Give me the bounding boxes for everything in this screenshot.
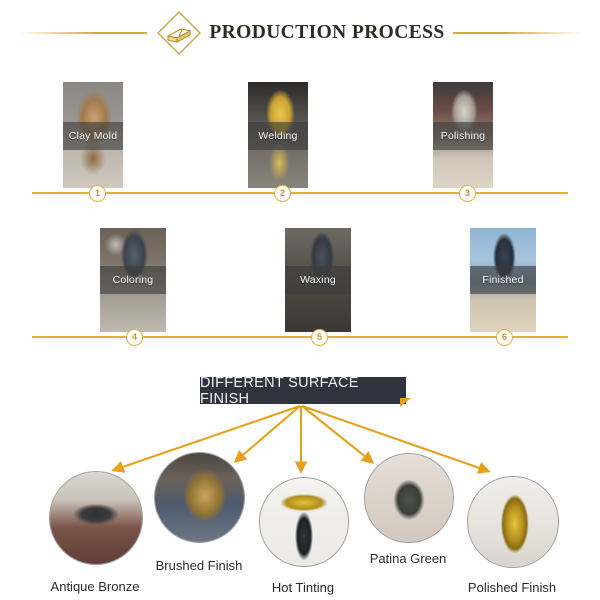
step-label: Coloring <box>113 274 154 286</box>
arrow-to-patina-green <box>302 406 372 462</box>
step-number-2: 2 <box>274 185 291 202</box>
step-image-welding: Welding <box>248 82 308 188</box>
step-image-clay-mold: Clay Mold <box>63 82 123 188</box>
step-number-5: 5 <box>311 329 328 346</box>
step-image-polishing: Polishing <box>433 82 493 188</box>
step-number-text: 1 <box>95 189 100 198</box>
finish-circle-polished-finish <box>467 476 559 568</box>
step-label: Waxing <box>300 274 336 286</box>
step-image-finished: Finished <box>470 228 536 332</box>
step-label-band: Finished <box>470 266 536 294</box>
process-line-1 <box>32 192 568 194</box>
step-number-text: 6 <box>502 333 507 342</box>
process-line-2 <box>32 336 568 338</box>
gold-ingot-diamond-icon <box>155 9 203 57</box>
step-label-band: Polishing <box>433 122 493 150</box>
finish-circle-antique-bronze <box>49 471 143 565</box>
step-number-text: 4 <box>132 333 137 342</box>
finish-circle-patina-green <box>364 453 454 543</box>
step-number-3: 3 <box>459 185 476 202</box>
step-number-6: 6 <box>496 329 513 346</box>
step-number-1: 1 <box>89 185 106 202</box>
step-number-text: 3 <box>465 189 470 198</box>
process-row-2: Coloring 4 Waxing 5 Finished 6 <box>0 218 600 348</box>
photo-patina-green <box>365 454 453 542</box>
finish-label-antique-bronze: Antique Bronze <box>20 579 170 594</box>
step-number-4: 4 <box>126 329 143 346</box>
page-title: PRODUCTION PROCESS <box>209 22 444 44</box>
finish-label-hot-tinting: Hot Tinting <box>228 580 378 595</box>
page-title-row: PRODUCTION PROCESS <box>0 8 600 58</box>
title-group: PRODUCTION PROCESS <box>147 9 452 57</box>
step-label: Finished <box>482 274 523 286</box>
photo-polished-finish <box>468 477 558 567</box>
step-label-band: Welding <box>248 122 308 150</box>
step-label: Welding <box>258 130 297 142</box>
step-number-text: 5 <box>317 333 322 342</box>
production-process-infographic: PRODUCTION PROCESS Clay Mold 1 Welding 2 <box>0 0 600 600</box>
step-number-text: 2 <box>280 189 285 198</box>
finish-label-brushed-finish: Brushed Finish <box>124 558 274 573</box>
banner-tail-triangle <box>400 398 411 407</box>
photo-brushed-finish <box>155 453 244 542</box>
step-image-waxing: Waxing <box>285 228 351 332</box>
arrow-to-brushed-finish <box>236 406 300 461</box>
finish-circle-brushed-finish <box>154 452 245 543</box>
step-image-coloring: Coloring <box>100 228 166 332</box>
surface-finish-banner: DIFFERENT SURFACE FINISH <box>200 377 406 404</box>
step-label-band: Waxing <box>285 266 351 294</box>
finish-label-patina-green: Patina Green <box>333 551 483 566</box>
step-label-band: Clay Mold <box>63 122 123 150</box>
finish-label-polished-finish: Polished Finish <box>437 580 587 595</box>
surface-finish-banner-label: DIFFERENT SURFACE FINISH <box>200 375 406 407</box>
photo-antique-bronze <box>50 472 142 564</box>
title-rule-right <box>453 32 583 34</box>
step-label-band: Coloring <box>100 266 166 294</box>
title-rule-left <box>17 32 147 34</box>
step-label: Polishing <box>441 130 485 142</box>
step-label: Clay Mold <box>69 130 117 142</box>
process-row-1: Clay Mold 1 Welding 2 Polishing 3 <box>0 70 600 205</box>
